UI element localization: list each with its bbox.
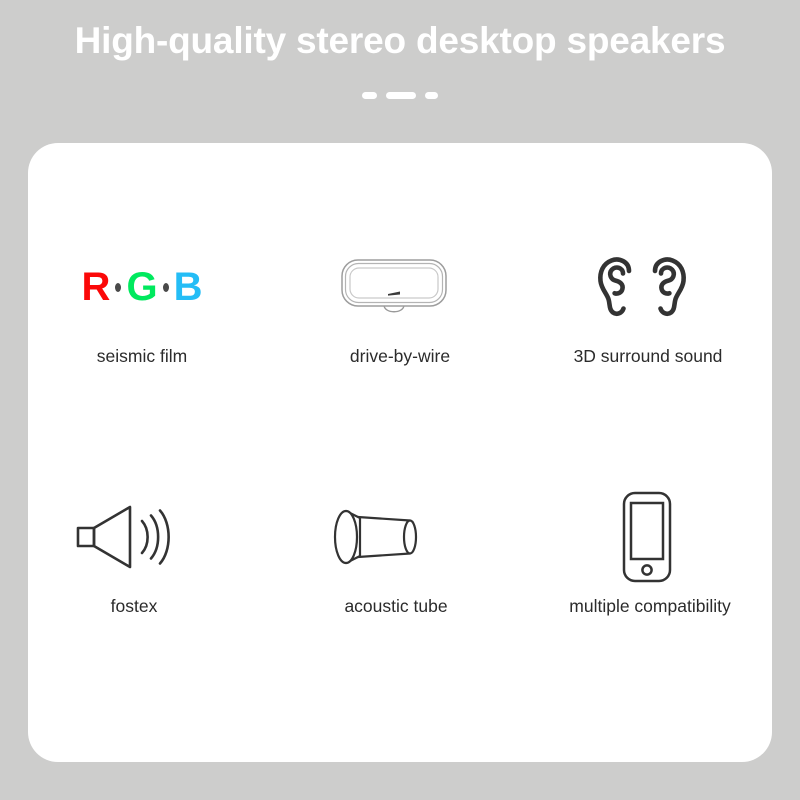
page-header: High-quality stereo desktop speakers — [0, 0, 800, 143]
rgb-separator-dot-2 — [163, 283, 169, 292]
feature-label-multiple-compatibility: multiple compatibility — [526, 596, 774, 617]
feature-item-acoustic-tube[interactable]: acoustic tube — [276, 478, 524, 678]
ears-icon — [518, 228, 766, 346]
divider-dash-long-center — [386, 92, 416, 99]
feature-label-fostex: fostex — [10, 596, 258, 617]
feature-item-seismic-film[interactable]: R G B seismic film — [28, 228, 276, 428]
soundbar-icon — [270, 228, 518, 346]
smartphone-icon — [518, 478, 766, 596]
divider-dash-short-left — [362, 92, 377, 99]
feature-card: R G B seismic film — [28, 143, 772, 762]
acoustic-tube-icon — [254, 478, 502, 596]
title-divider — [0, 92, 800, 99]
feature-label-drive-by-wire: drive-by-wire — [276, 346, 524, 367]
divider-dash-short-right — [425, 92, 438, 99]
feature-item-fostex[interactable]: fostex — [28, 478, 276, 678]
feature-label-acoustic-tube: acoustic tube — [272, 596, 520, 617]
speaker-volume-icon — [0, 478, 248, 596]
feature-label-3d-surround-sound: 3D surround sound — [524, 346, 772, 367]
rgb-letter-r: R — [82, 267, 111, 307]
feature-item-3d-surround-sound[interactable]: 3D surround sound — [524, 228, 772, 428]
rgb-letter-g: G — [126, 267, 157, 307]
page-title: High-quality stereo desktop speakers — [0, 20, 800, 62]
rgb-separator-dot-1 — [115, 283, 121, 292]
rgb-icon: R G B — [18, 228, 266, 346]
feature-label-seismic-film: seismic film — [18, 346, 266, 367]
product-feature-page: High-quality stereo desktop speakers R G… — [0, 0, 800, 800]
feature-grid: R G B seismic film — [28, 143, 772, 762]
feature-item-drive-by-wire[interactable]: drive-by-wire — [276, 228, 524, 428]
feature-item-multiple-compatibility[interactable]: multiple compatibility — [524, 478, 772, 678]
rgb-letter-b: B — [174, 267, 203, 307]
